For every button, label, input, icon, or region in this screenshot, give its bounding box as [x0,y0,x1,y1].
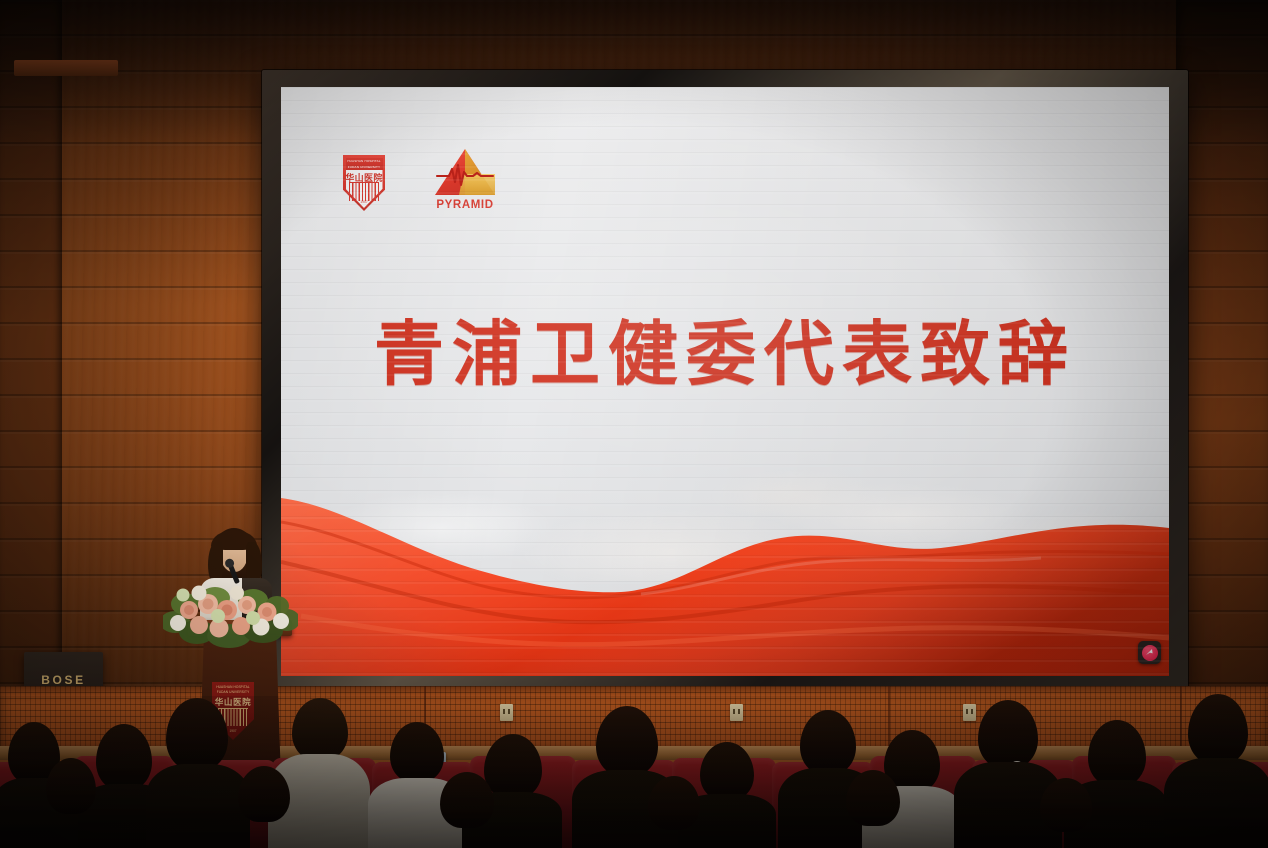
attendee-shoulders [1164,758,1268,848]
bose-brand-label: BOSE [24,673,103,687]
attendee-head [846,770,900,826]
podium-crest-english: HUASHAN HOSPITAL FUDAN UNIVERSITY [212,685,254,694]
attendee-head [700,742,754,800]
attendee-shoulders [146,764,250,848]
flower-arrangement [163,576,298,648]
attendee-head [166,698,228,770]
attendee-head [978,700,1038,768]
red-silk-ribbon-graphic [281,476,1169,676]
attendee-head [440,772,494,828]
attendee-head [390,722,444,782]
flower-vase [14,60,118,76]
crest-building-icon [349,182,379,201]
attendee-head [484,734,542,798]
wps-cursor-icon [1142,645,1158,661]
attendee-head [292,698,348,760]
projected-slide: HUASHAN HOSPITAL FUDAN UNIVERSITY 华山医院 1… [281,87,1169,676]
flower-bouquet-icon [163,576,298,648]
attendee-head [1088,720,1146,786]
wps-presentation-badge[interactable] [1138,641,1161,664]
crest-year: 1907 [343,200,385,204]
pyramid-label: PYRAMID [429,199,501,211]
attendee-head [800,710,856,774]
attendee-head [96,724,152,790]
crest-english-text: HUASHAN HOSPITAL FUDAN UNIVERSITY [343,158,385,172]
attendee-head [648,776,700,830]
attendee-head [1188,694,1248,764]
attendee-head [1040,778,1092,832]
pyramid-logo-icon: PYRAMID [429,149,501,211]
attendee-head [596,706,658,776]
attendee-head [46,758,96,814]
slide-logo-row: HUASHAN HOSPITAL FUDAN UNIVERSITY 华山医院 1… [343,149,501,211]
ecg-waveform-icon [435,163,495,187]
audience-area [0,696,1268,848]
projection-screen-frame: HUASHAN HOSPITAL FUDAN UNIVERSITY 华山医院 1… [262,70,1188,692]
attendee-head [238,766,290,822]
huashan-hospital-crest-icon: HUASHAN HOSPITAL FUDAN UNIVERSITY 华山医院 1… [343,155,385,211]
slide-title: 青浦卫健委代表致辞 [281,319,1169,389]
auditorium-photo: HUASHAN HOSPITAL FUDAN UNIVERSITY 华山医院 1… [0,0,1268,848]
